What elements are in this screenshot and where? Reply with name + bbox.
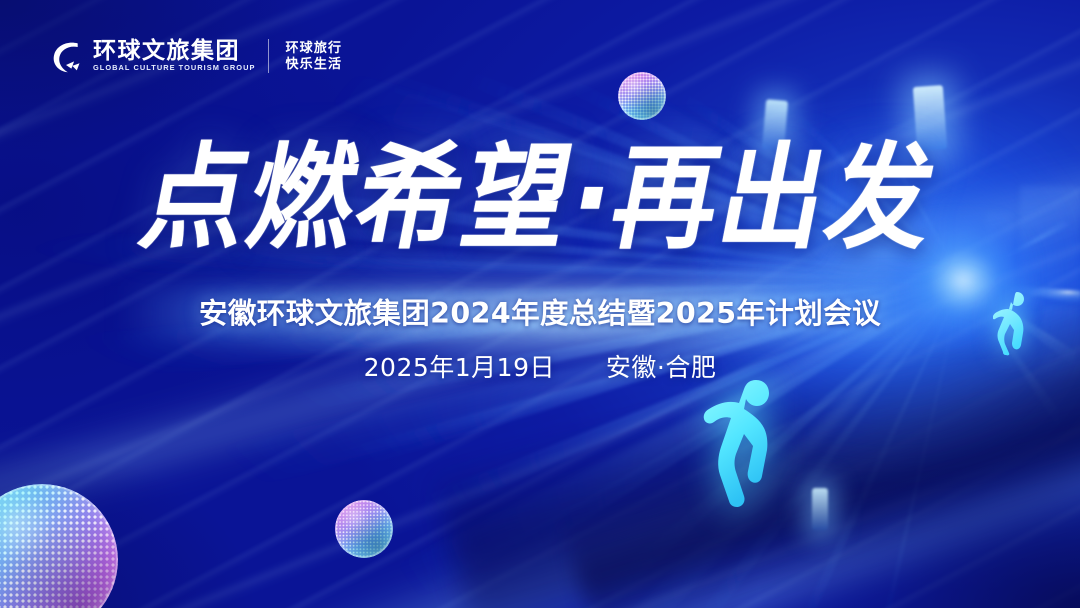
logo-tagline: 环球旅行 快乐生活 bbox=[285, 42, 342, 71]
event-meta: 2025年1月19日 安徽·合肥 bbox=[0, 348, 1080, 384]
sphere-rim-highlight bbox=[335, 500, 393, 558]
globe-swoosh-mark bbox=[48, 38, 84, 74]
event-date: 2025年1月19日 bbox=[364, 353, 555, 382]
logo-tagline-line2: 快乐生活 bbox=[285, 58, 342, 71]
logo-english-name: GLOBAL CULTURE TOURISM GROUP bbox=[93, 64, 255, 71]
logo-chinese-name: 环球文旅集团 bbox=[93, 40, 255, 63]
brand-logo[interactable]: 环球文旅集团 GLOBAL CULTURE TOURISM GROUP 环球旅行… bbox=[48, 38, 342, 74]
event-poster: 环球文旅集团 GLOBAL CULTURE TOURISM GROUP 环球旅行… bbox=[0, 0, 1080, 608]
building-glow-lower bbox=[812, 488, 828, 530]
runner-silhouette-large bbox=[700, 376, 792, 514]
sphere-rim-highlight bbox=[618, 72, 666, 120]
event-location: 安徽·合肥 bbox=[606, 353, 716, 382]
building-glow-left bbox=[762, 99, 788, 151]
building-glow-right bbox=[913, 85, 947, 151]
logo-divider bbox=[268, 39, 269, 73]
logo-tagline-line1: 环球旅行 bbox=[285, 42, 342, 55]
logo-wordmark: 环球文旅集团 GLOBAL CULTURE TOURISM GROUP bbox=[93, 40, 255, 71]
sphere-small-top-right bbox=[618, 72, 666, 120]
sphere-small-bottom-center bbox=[335, 500, 393, 558]
subtitle-text: 安徽环球文旅集团2024年度总结暨2025年计划会议 bbox=[0, 291, 1080, 332]
